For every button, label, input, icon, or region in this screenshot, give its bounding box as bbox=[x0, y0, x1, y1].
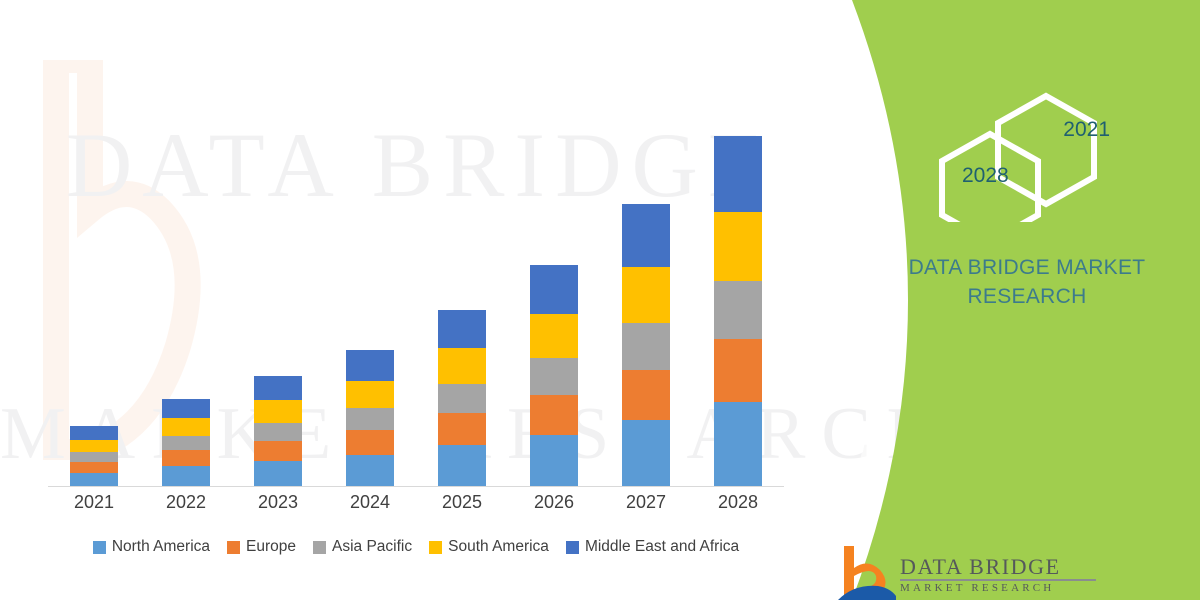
bar-segment bbox=[438, 310, 486, 349]
brand-name-line-1: DATA BRIDGE MARKET bbox=[862, 253, 1192, 282]
bar-segment bbox=[622, 267, 670, 324]
stacked-bar bbox=[622, 204, 670, 486]
bar-segment bbox=[70, 426, 118, 440]
legend-swatch-icon bbox=[313, 541, 326, 554]
x-axis-label: 2022 bbox=[140, 492, 232, 513]
legend-item[interactable]: North America bbox=[93, 538, 210, 556]
chart-bars bbox=[48, 90, 784, 486]
logo-subtitle: MARKET RESEARCH bbox=[900, 582, 1054, 594]
bar-column bbox=[692, 90, 784, 486]
bar-segment bbox=[346, 350, 394, 381]
x-axis-line bbox=[48, 486, 784, 487]
bar-segment bbox=[530, 395, 578, 435]
stacked-bar bbox=[70, 426, 118, 486]
brand-name-line-2: RESEARCH bbox=[862, 282, 1192, 311]
bar-segment bbox=[530, 265, 578, 314]
stacked-bar bbox=[530, 265, 578, 486]
bar-column bbox=[416, 90, 508, 486]
legend-label: South America bbox=[448, 538, 549, 556]
bar-column bbox=[232, 90, 324, 486]
bar-segment bbox=[162, 418, 210, 436]
x-axis-labels: 20212022202320242025202620272028 bbox=[48, 492, 784, 513]
bar-segment bbox=[530, 314, 578, 358]
bar-segment bbox=[346, 430, 394, 454]
bar-segment bbox=[162, 450, 210, 466]
bar-segment bbox=[438, 348, 486, 383]
bar-segment bbox=[346, 381, 394, 409]
logo-name: DATA BRIDGE bbox=[900, 554, 1061, 580]
legend-swatch-icon bbox=[227, 541, 240, 554]
hexagon-label-2028: 2028 bbox=[962, 164, 1009, 188]
bar-segment bbox=[70, 462, 118, 473]
bar-segment bbox=[530, 435, 578, 486]
x-axis-label: 2026 bbox=[508, 492, 600, 513]
bar-segment bbox=[162, 436, 210, 451]
bar-segment bbox=[438, 413, 486, 445]
legend-item[interactable]: Europe bbox=[227, 538, 296, 556]
company-logo: DATA BRIDGE MARKET RESEARCH bbox=[838, 542, 1198, 600]
hexagon-badges: 2021 2028 bbox=[928, 92, 1118, 222]
bar-segment bbox=[530, 358, 578, 395]
legend-item[interactable]: South America bbox=[429, 538, 549, 556]
stacked-bar bbox=[346, 350, 394, 486]
legend-item[interactable]: Asia Pacific bbox=[313, 538, 412, 556]
bar-segment bbox=[622, 420, 670, 486]
bar-column bbox=[600, 90, 692, 486]
bar-segment bbox=[714, 136, 762, 212]
bar-segment bbox=[346, 408, 394, 430]
bar-segment bbox=[254, 400, 302, 422]
x-axis-label: 2025 bbox=[416, 492, 508, 513]
stacked-bar-chart: 20212022202320242025202620272028 North A… bbox=[0, 0, 830, 600]
bar-segment bbox=[70, 452, 118, 462]
x-axis-label: 2028 bbox=[692, 492, 784, 513]
bar-segment bbox=[254, 376, 302, 400]
panel-subtitle: By Regions, 2021 to 2028 bbox=[860, 0, 1200, 1]
legend-label: North America bbox=[112, 538, 210, 556]
x-axis-label: 2027 bbox=[600, 492, 692, 513]
bar-segment bbox=[70, 473, 118, 486]
legend-swatch-icon bbox=[93, 541, 106, 554]
bar-segment bbox=[622, 370, 670, 420]
legend-label: Middle East and Africa bbox=[585, 538, 739, 556]
legend-swatch-icon bbox=[566, 541, 579, 554]
infographic-canvas: DATA BRIDGE MARKET RESEARCH By Regions, … bbox=[0, 0, 1200, 600]
x-axis-label: 2024 bbox=[324, 492, 416, 513]
stacked-bar bbox=[254, 376, 302, 486]
logo-b-icon bbox=[838, 544, 896, 600]
hexagon-label-2021: 2021 bbox=[1063, 118, 1110, 142]
stacked-bar bbox=[162, 399, 210, 486]
logo-divider bbox=[900, 579, 1096, 581]
chart-legend: North AmericaEuropeAsia PacificSouth Ame… bbox=[48, 538, 784, 556]
brand-name: DATA BRIDGE MARKET RESEARCH bbox=[862, 253, 1192, 311]
bar-segment bbox=[622, 204, 670, 267]
bar-segment bbox=[714, 402, 762, 486]
stacked-bar bbox=[438, 310, 486, 487]
bar-segment bbox=[70, 440, 118, 452]
bar-segment bbox=[346, 455, 394, 486]
x-axis-label: 2021 bbox=[48, 492, 140, 513]
bar-segment bbox=[438, 384, 486, 413]
legend-label: Europe bbox=[246, 538, 296, 556]
bar-column bbox=[140, 90, 232, 486]
x-axis-label: 2023 bbox=[232, 492, 324, 513]
bar-column bbox=[508, 90, 600, 486]
bar-segment bbox=[254, 441, 302, 461]
bar-segment bbox=[438, 445, 486, 486]
bar-column bbox=[324, 90, 416, 486]
legend-item[interactable]: Middle East and Africa bbox=[566, 538, 739, 556]
legend-swatch-icon bbox=[429, 541, 442, 554]
bar-segment bbox=[714, 339, 762, 402]
bar-segment bbox=[162, 466, 210, 486]
stacked-bar bbox=[714, 136, 762, 486]
bar-segment bbox=[254, 423, 302, 441]
bar-segment bbox=[714, 281, 762, 339]
bar-segment bbox=[162, 399, 210, 418]
bar-segment bbox=[254, 461, 302, 486]
bar-segment bbox=[714, 212, 762, 281]
bar-column bbox=[48, 90, 140, 486]
bar-segment bbox=[622, 323, 670, 370]
legend-label: Asia Pacific bbox=[332, 538, 412, 556]
